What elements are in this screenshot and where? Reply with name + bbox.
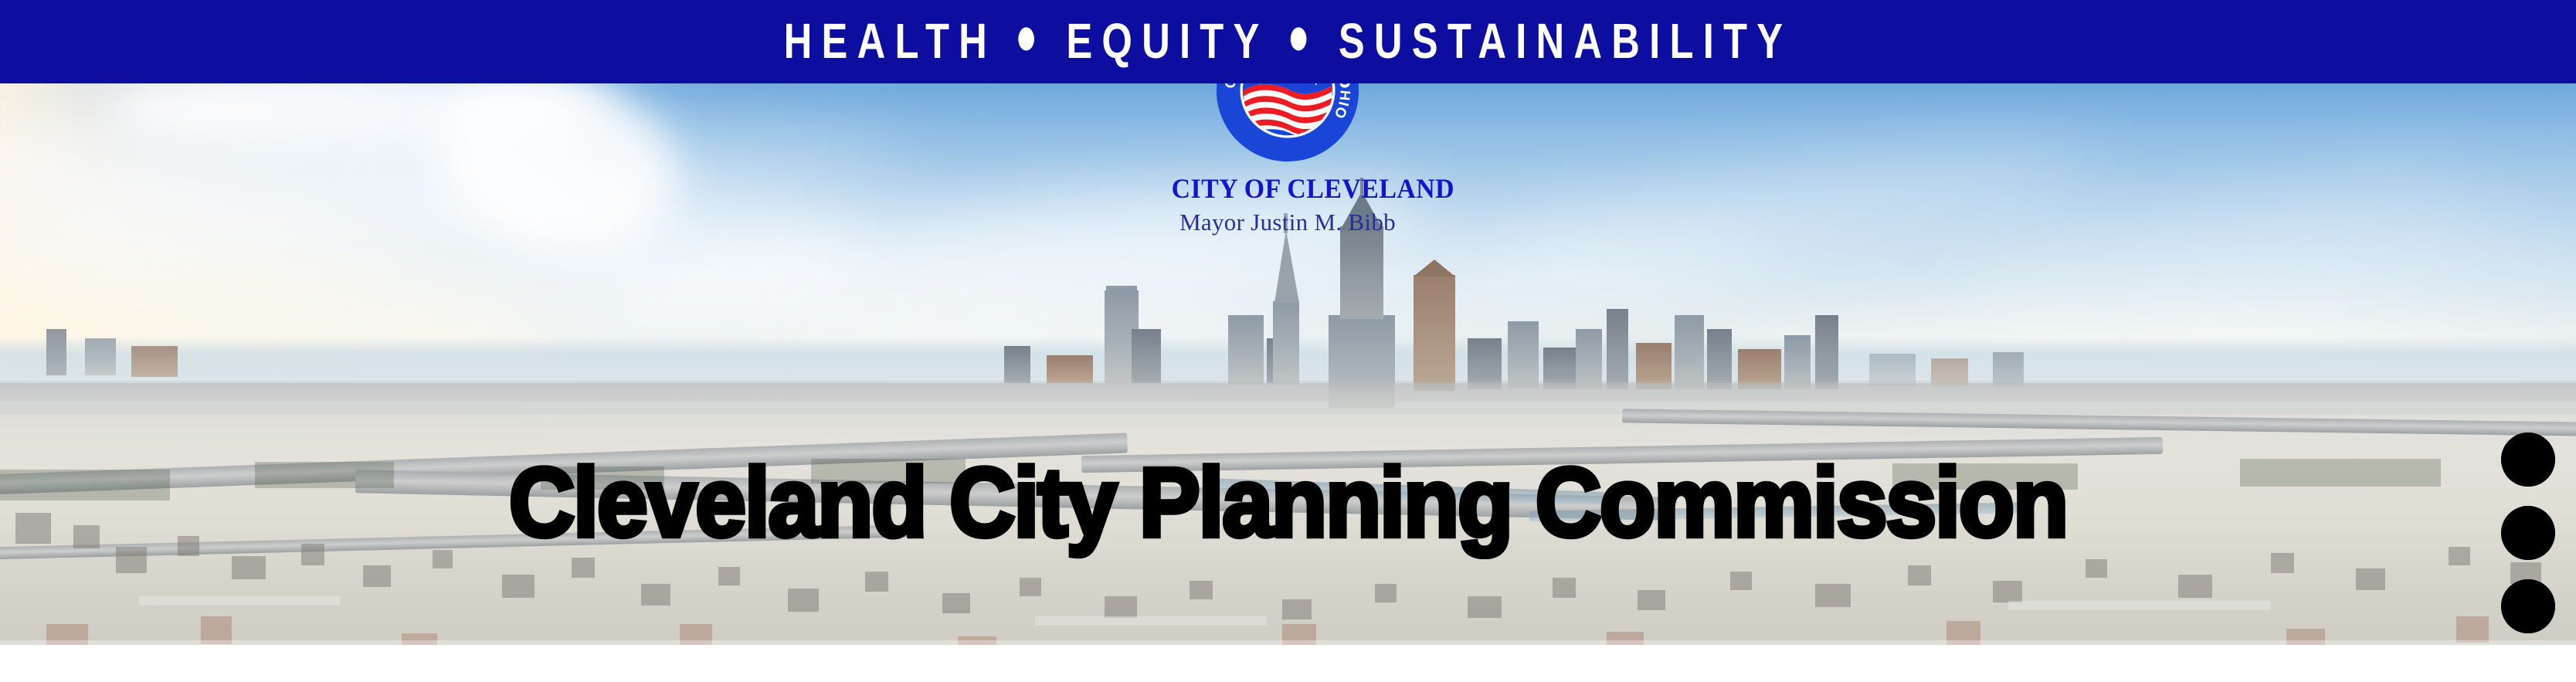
logo-mayor-name: Mayor Justin M. Bibb (1164, 209, 1411, 236)
tagline-word-health: HEALTH (784, 15, 996, 70)
youtube-link[interactable] (2501, 433, 2555, 487)
photo-bottom-edge (0, 640, 2576, 645)
instagram-icon (2501, 506, 2555, 560)
facebook-link[interactable] (2501, 579, 2555, 633)
tagline-bullet-1 (1018, 27, 1034, 50)
logo-city-name: CITY OF CLEVELAND (1172, 172, 1404, 205)
tagline-word-equity: EQUITY (1066, 15, 1268, 70)
facebook-icon (2501, 579, 2555, 633)
page-title: Cleveland City Planning Commission (0, 454, 2576, 551)
tagline-bar: HEALTHEQUITYSUSTAINABILITY (0, 0, 2576, 83)
page-background (0, 645, 2576, 682)
tagline-bullet-2 (1291, 27, 1307, 50)
youtube-icon (2501, 433, 2555, 487)
tagline-text: HEALTHEQUITYSUSTAINABILITY (784, 13, 1793, 70)
instagram-link[interactable] (2501, 506, 2555, 560)
tagline-word-sustainability: SUSTAINABILITY (1339, 15, 1793, 70)
social-links (2501, 433, 2555, 633)
